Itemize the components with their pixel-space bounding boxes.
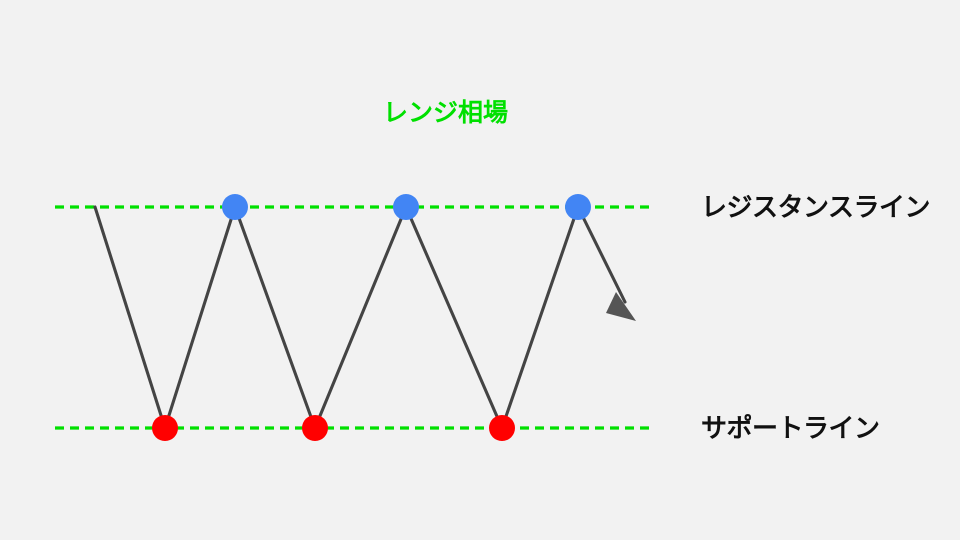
support-marker	[489, 415, 515, 441]
support-marker	[302, 415, 328, 441]
resistance-marker	[222, 194, 248, 220]
support-line-label: サポートライン	[701, 415, 880, 441]
resistance-marker	[565, 194, 591, 220]
diagram-canvas: レンジ相場 レジスタンスライン サポートライン	[0, 0, 960, 540]
price-path	[95, 207, 625, 428]
resistance-marker	[393, 194, 419, 220]
resistance-line-label: レジスタンスライン	[701, 194, 930, 220]
page-title: レンジ相場	[383, 101, 508, 126]
range-market-diagram	[0, 0, 960, 540]
support-marker	[152, 415, 178, 441]
